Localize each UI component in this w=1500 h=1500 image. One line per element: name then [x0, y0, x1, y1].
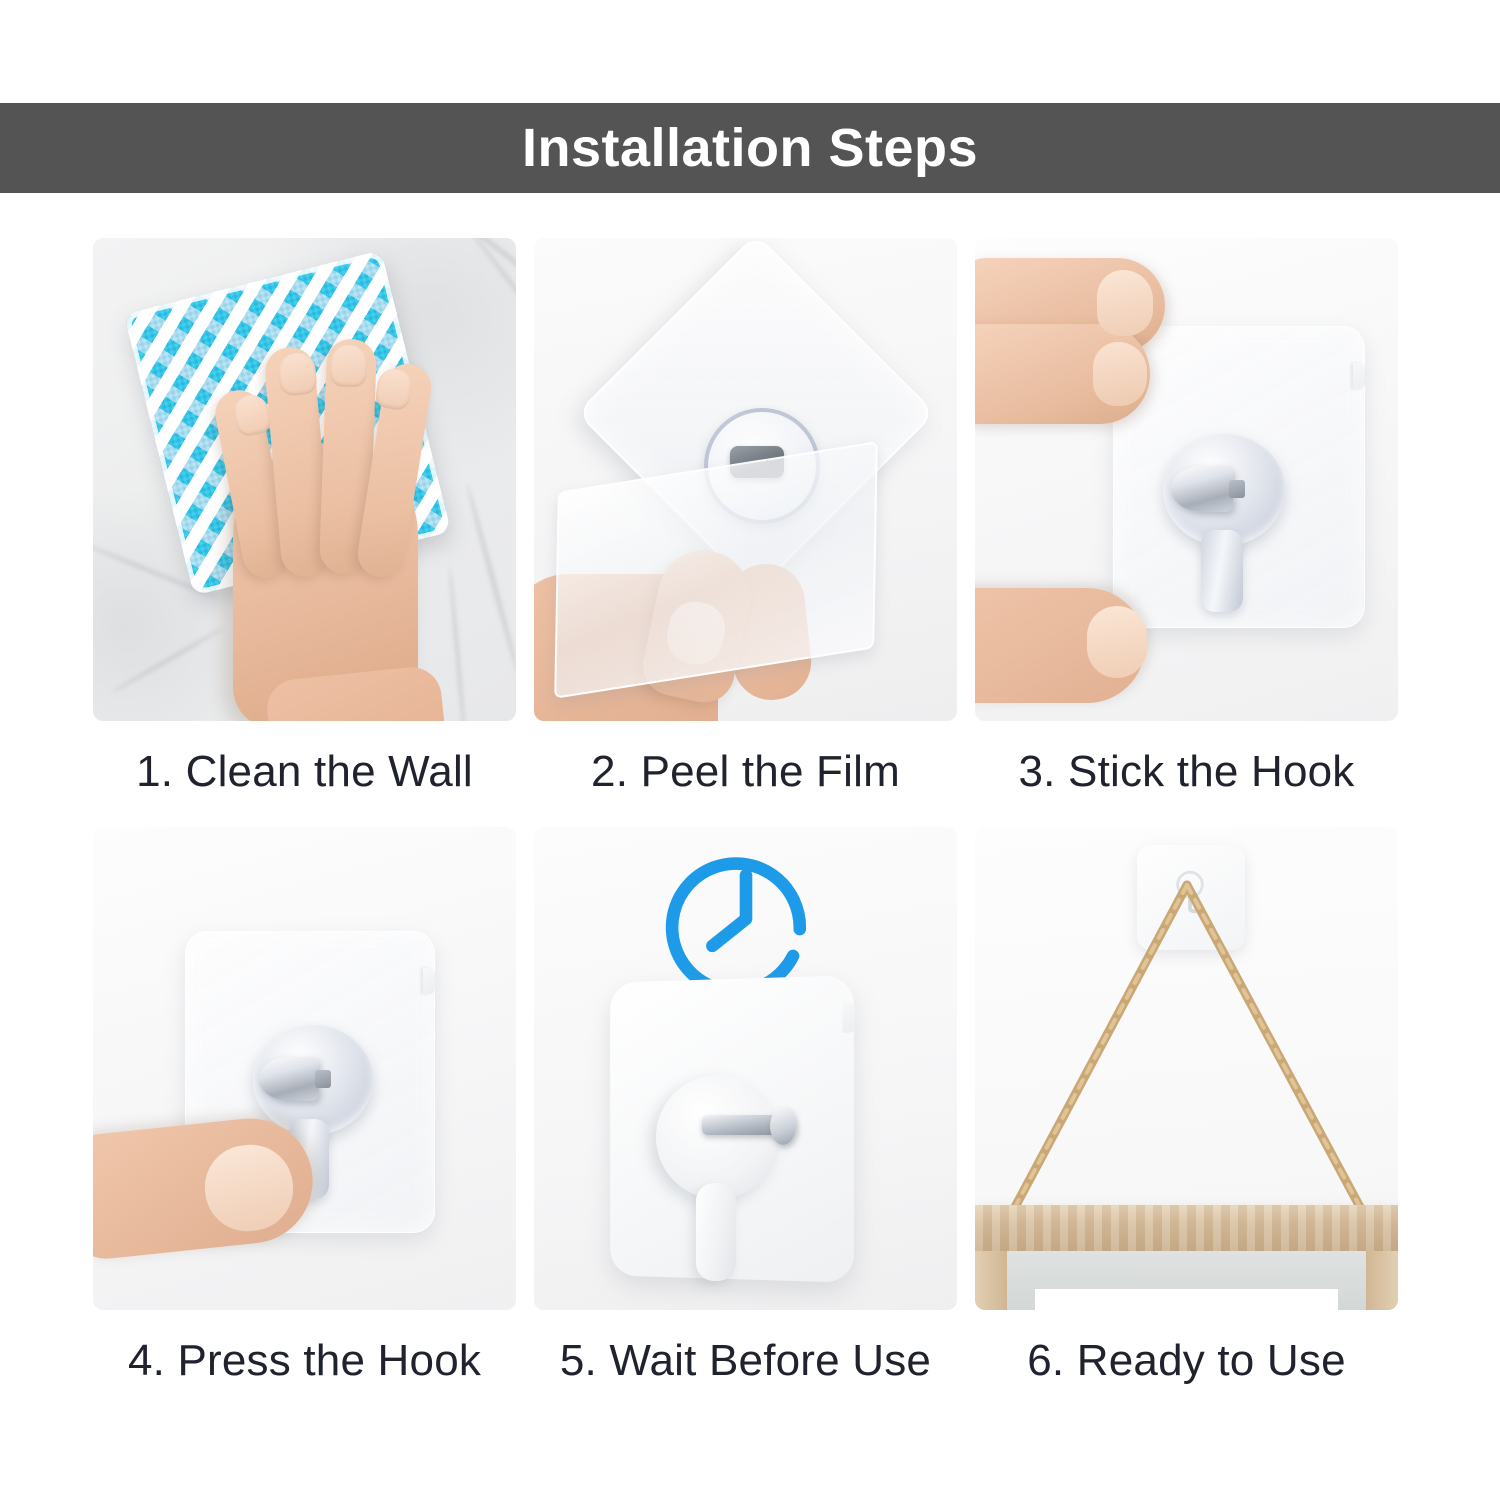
picture-frame-top-rail	[975, 1205, 1398, 1251]
hand-pressing-pad	[975, 258, 1185, 698]
step-4-caption: 4. Press the Hook	[93, 1336, 516, 1386]
step-1-photo-clean-the-wall	[93, 238, 516, 721]
pad-notch	[1353, 363, 1365, 389]
step-3-caption: 3. Stick the Hook	[975, 747, 1398, 797]
hook-metal-knob	[259, 1057, 319, 1101]
step-card-4: 4. Press the Hook	[93, 827, 516, 1398]
hook-base-disc	[656, 1075, 780, 1199]
picture-frame-artwork	[1035, 1289, 1338, 1310]
step-card-1: 1. Clean the Wall	[93, 238, 516, 809]
hand-wiping	[211, 293, 451, 721]
fingernail	[1097, 270, 1153, 336]
installation-steps-grid: 1. Clean the Wall 2. Peel the Film	[93, 238, 1400, 1398]
thumbnail	[1087, 606, 1147, 678]
step-5-photo-wait-before-use	[534, 827, 957, 1310]
marble-vein	[111, 626, 226, 694]
step-card-5: 5. Wait Before Use	[534, 827, 957, 1398]
fingernail	[329, 344, 367, 387]
picture-frame-left-rail	[975, 1251, 1007, 1310]
page-title: Installation Steps	[522, 121, 978, 175]
step-card-2: 2. Peel the Film	[534, 238, 957, 809]
fingernail	[1093, 342, 1147, 406]
fingernail	[277, 351, 318, 396]
step-6-caption: 6. Ready to Use	[975, 1336, 1398, 1386]
step-2-photo-peel-the-film	[534, 238, 957, 721]
step-card-6: 6. Ready to Use	[975, 827, 1398, 1398]
pad-notch	[842, 1002, 854, 1033]
step-1-caption: 1. Clean the Wall	[93, 747, 516, 797]
marble-vein	[465, 483, 516, 677]
hook-metal-pin	[702, 1115, 778, 1135]
hook-stem	[1201, 530, 1243, 612]
step-4-photo-press-the-hook	[93, 827, 516, 1310]
step-3-photo-stick-the-hook	[975, 238, 1398, 721]
pad-notch	[423, 968, 435, 994]
step-card-3: 3. Stick the Hook	[975, 238, 1398, 809]
hook-metal-cap	[770, 1107, 796, 1145]
hook-stem	[696, 1183, 736, 1281]
picture-frame-right-rail	[1366, 1251, 1398, 1310]
step-5-caption: 5. Wait Before Use	[534, 1336, 957, 1386]
step-6-photo-ready-to-use	[975, 827, 1398, 1310]
step-2-caption: 2. Peel the Film	[534, 747, 957, 797]
header-banner: Installation Steps	[0, 103, 1500, 193]
